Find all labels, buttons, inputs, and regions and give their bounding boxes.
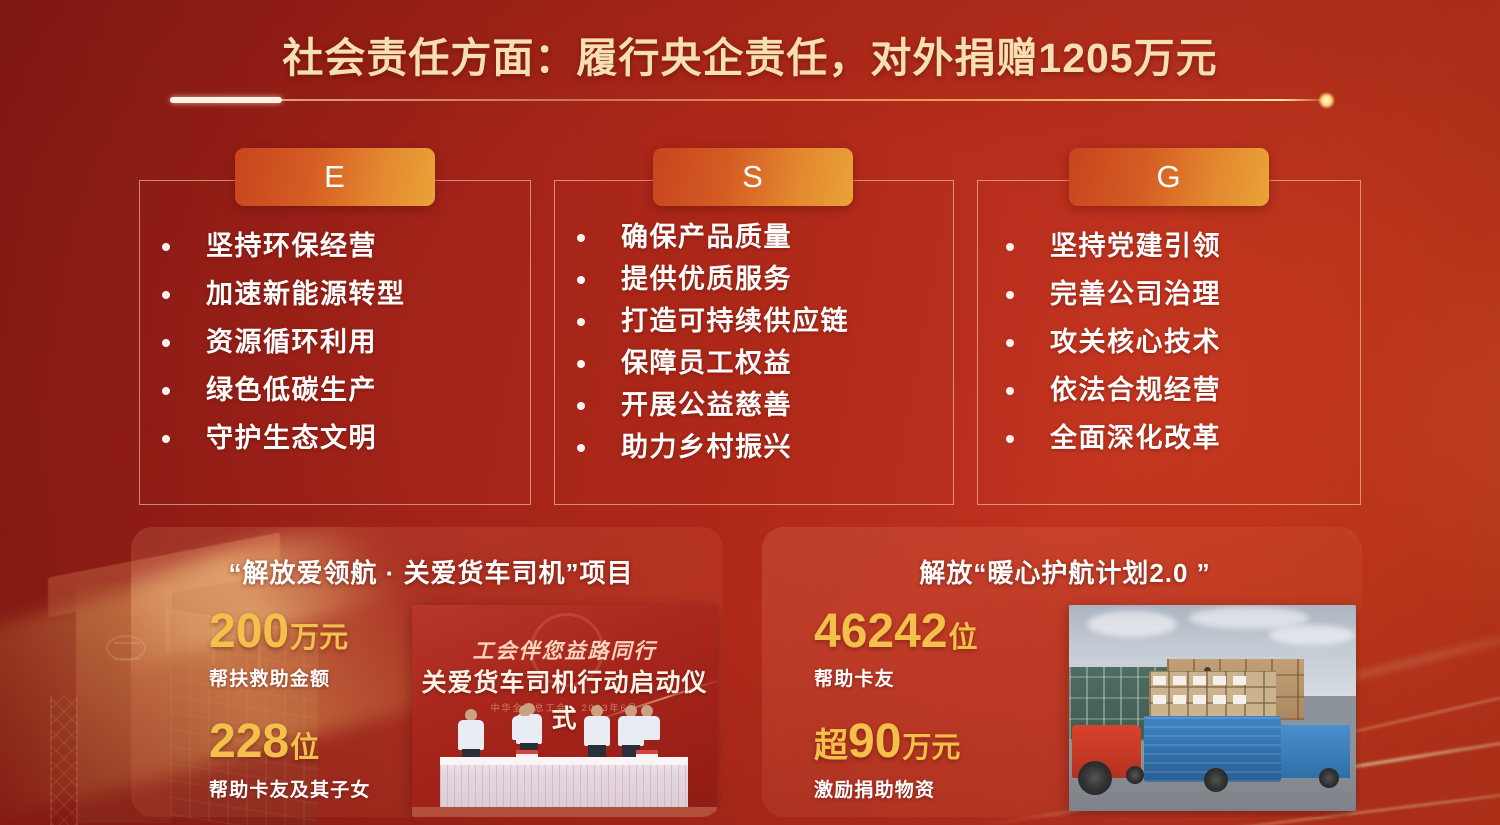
list-item: 提供优质服务 bbox=[555, 259, 953, 301]
photo-floor bbox=[412, 807, 717, 817]
slide-root: 社会责任方面：履行央企责任，对外捐赠1205万元 E 坚持环保经营 加速新能源转… bbox=[0, 0, 1500, 825]
bullet-icon bbox=[577, 234, 585, 242]
list-item: 攻关核心技术 bbox=[978, 319, 1360, 367]
list-item-label: 助力乡村振兴 bbox=[621, 434, 792, 461]
stat-value: 46242位 bbox=[814, 607, 1052, 657]
bullet-icon bbox=[1006, 243, 1014, 251]
stat-unit: 万元 bbox=[290, 622, 348, 654]
stat-prefix: 超 bbox=[814, 727, 848, 765]
esg-panel-g: G 坚持党建引领 完善公司治理 攻关核心技术 依法合规经营 bbox=[977, 180, 1361, 505]
list-item-label: 绿色低碳生产 bbox=[206, 377, 377, 404]
list-item: 坚持党建引领 bbox=[978, 223, 1360, 271]
stat-value: 超90万元 bbox=[814, 717, 1052, 767]
bullet-icon bbox=[1006, 435, 1014, 443]
divider-line bbox=[170, 99, 1330, 101]
stat-unit: 位 bbox=[290, 732, 319, 764]
page-title: 社会责任方面：履行央企责任，对外捐赠1205万元 bbox=[0, 24, 1500, 84]
tractor-wheel bbox=[1078, 761, 1112, 795]
photo-backdrop: 工会伴您益路同行 关爱货车司机行动启动仪式 中华全国总工会 · 2023年6月 bbox=[412, 605, 717, 817]
title-divider bbox=[170, 97, 1330, 103]
bullet-icon bbox=[162, 339, 170, 347]
list-item: 绿色低碳生产 bbox=[140, 367, 530, 415]
list-item-label: 坚持环保经营 bbox=[206, 233, 377, 260]
banner-line-1: 工会伴您益路同行 bbox=[412, 635, 717, 665]
list-item: 开展公益慈善 bbox=[555, 385, 953, 427]
slide-header: 社会责任方面：履行央企责任，对外捐赠1205万元 bbox=[0, 24, 1500, 84]
list-item: 打造可持续供应链 bbox=[555, 301, 953, 343]
bullet-icon bbox=[162, 291, 170, 299]
stat-label: 激励捐助物资 bbox=[814, 775, 1052, 802]
list-item-label: 坚持党建引领 bbox=[1050, 233, 1221, 260]
project-title: 解放“暖心护航计划2.0 ” bbox=[762, 553, 1362, 590]
cloud bbox=[1269, 625, 1355, 645]
project-stats: 46242位 帮助卡友 超90万元 激励捐助物资 bbox=[762, 607, 1052, 802]
list-item-label: 全面深化改革 bbox=[1050, 425, 1221, 452]
bullet-icon bbox=[577, 360, 585, 368]
list-item: 完善公司治理 bbox=[978, 271, 1360, 319]
stat-label: 帮扶救助金额 bbox=[209, 664, 421, 691]
signing-table bbox=[440, 757, 688, 809]
list-item-label: 确保产品质量 bbox=[621, 224, 792, 251]
stat-unit: 万元 bbox=[902, 732, 960, 764]
list-item-label: 提供优质服务 bbox=[621, 266, 792, 293]
list-item-label: 依法合规经营 bbox=[1050, 377, 1221, 404]
bullet-icon bbox=[162, 435, 170, 443]
project-card-left: “解放爱领航 · 关爱货车司机”项目 200万元 帮扶救助金额 228位 帮助卡… bbox=[131, 527, 723, 817]
stat-block: 超90万元 激励捐助物资 bbox=[814, 717, 1052, 801]
esg-list-e: 坚持环保经营 加速新能源转型 资源循环利用 绿色低碳生产 守护生态文明 bbox=[140, 181, 530, 504]
bullet-icon bbox=[162, 387, 170, 395]
list-item: 加速新能源转型 bbox=[140, 271, 530, 319]
list-item-label: 保障员工权益 bbox=[621, 350, 792, 377]
divider-glow-dot bbox=[1318, 92, 1335, 109]
esg-list-s: 确保产品质量 提供优质服务 打造可持续供应链 保障员工权益 开展公益慈善 bbox=[555, 181, 953, 504]
list-item-label: 资源循环利用 bbox=[206, 329, 377, 356]
second-blue-trailer bbox=[1281, 725, 1350, 779]
bullet-icon bbox=[577, 444, 585, 452]
stat-label: 帮助卡友 bbox=[814, 664, 1052, 691]
esg-panel-e: E 坚持环保经营 加速新能源转型 资源循环利用 绿色低碳生产 bbox=[139, 180, 531, 505]
stat-block: 46242位 帮助卡友 bbox=[814, 607, 1052, 691]
project-photo-relief-supplies bbox=[1069, 605, 1356, 811]
photo-person bbox=[584, 705, 610, 761]
stat-unit: 位 bbox=[948, 622, 977, 654]
cloud bbox=[1087, 611, 1177, 637]
list-item: 守护生态文明 bbox=[140, 415, 530, 463]
list-item: 资源循环利用 bbox=[140, 319, 530, 367]
list-item-label: 攻关核心技术 bbox=[1050, 329, 1221, 356]
bullet-icon bbox=[577, 318, 585, 326]
stat-number: 200 bbox=[209, 605, 289, 658]
stat-value: 228位 bbox=[209, 717, 421, 767]
list-item-label: 守护生态文明 bbox=[206, 425, 377, 452]
bullet-icon bbox=[162, 243, 170, 251]
list-item: 全面深化改革 bbox=[978, 415, 1360, 463]
project-photo-signing-ceremony: 工会伴您益路同行 关爱货车司机行动启动仪式 中华全国总工会 · 2023年6月 bbox=[412, 605, 717, 817]
project-title: “解放爱领航 · 关爱货车司机”项目 bbox=[131, 553, 723, 590]
stat-number: 228 bbox=[209, 715, 289, 768]
project-cards: “解放爱领航 · 关爱货车司机”项目 200万元 帮扶救助金额 228位 帮助卡… bbox=[0, 527, 1500, 825]
stat-number: 90 bbox=[848, 715, 901, 768]
bullet-icon bbox=[577, 402, 585, 410]
list-item: 保障员工权益 bbox=[555, 343, 953, 385]
bullet-icon bbox=[577, 276, 585, 284]
trailer-wheel bbox=[1319, 768, 1339, 788]
divider-accent bbox=[170, 97, 282, 103]
stat-label: 帮助卡友及其子女 bbox=[209, 775, 421, 802]
photo-scene bbox=[1069, 605, 1356, 811]
stat-value: 200万元 bbox=[209, 607, 421, 657]
list-item: 助力乡村振兴 bbox=[555, 427, 953, 469]
esg-panel-s: S 确保产品质量 提供优质服务 打造可持续供应链 保障员工权益 bbox=[554, 180, 954, 505]
project-stats: 200万元 帮扶救助金额 228位 帮助卡友及其子女 bbox=[131, 607, 421, 802]
bullet-icon bbox=[1006, 387, 1014, 395]
esg-list-g: 坚持党建引领 完善公司治理 攻关核心技术 依法合规经营 全面深化改革 bbox=[978, 181, 1360, 504]
list-item: 坚持环保经营 bbox=[140, 223, 530, 271]
list-item-label: 开展公益慈善 bbox=[621, 392, 792, 419]
bullet-icon bbox=[1006, 339, 1014, 347]
relief-supply-boxes bbox=[1149, 671, 1275, 720]
list-item-label: 加速新能源转型 bbox=[206, 281, 406, 308]
bullet-icon bbox=[1006, 291, 1014, 299]
list-item-label: 完善公司治理 bbox=[1050, 281, 1221, 308]
stat-block: 200万元 帮扶救助金额 bbox=[209, 607, 421, 691]
stat-block: 228位 帮助卡友及其子女 bbox=[209, 717, 421, 801]
stat-number: 46242 bbox=[814, 605, 947, 658]
esg-panels: E 坚持环保经营 加速新能源转型 资源循环利用 绿色低碳生产 bbox=[0, 180, 1500, 505]
project-card-right: 解放“暖心护航计划2.0 ” 46242位 帮助卡友 超90万元 激励捐助物资 bbox=[762, 527, 1362, 817]
list-item-label: 打造可持续供应链 bbox=[621, 308, 849, 335]
list-item: 依法合规经营 bbox=[978, 367, 1360, 415]
list-item: 确保产品质量 bbox=[555, 217, 953, 259]
